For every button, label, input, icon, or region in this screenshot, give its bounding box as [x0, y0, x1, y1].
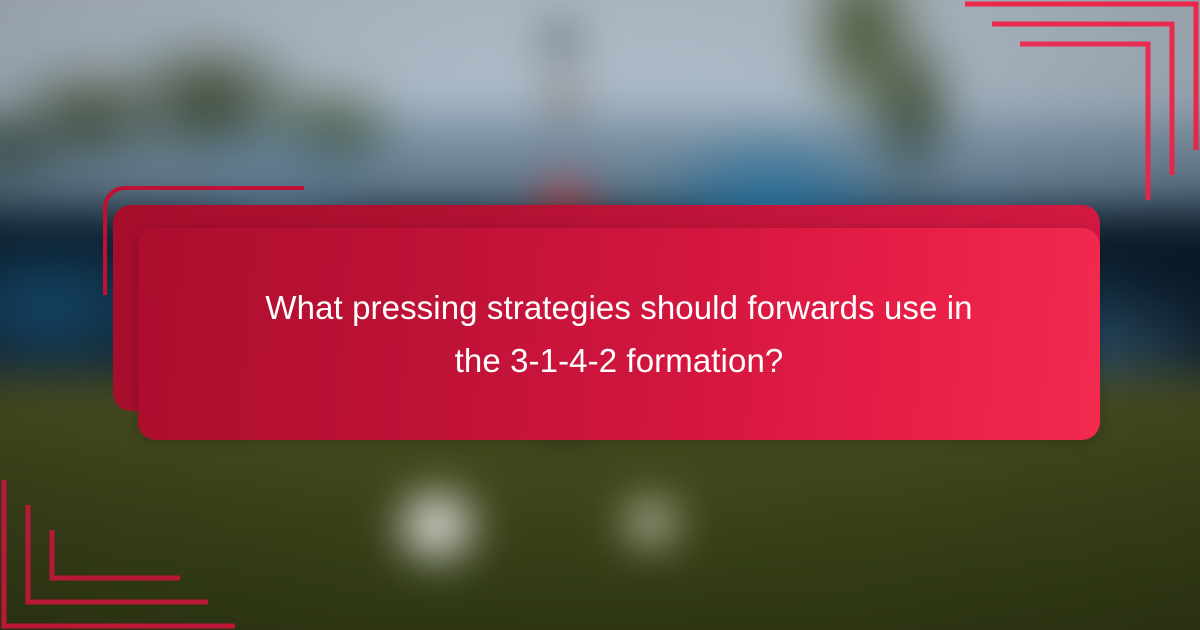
card-stack: What pressing strategies should forwards…	[0, 0, 1200, 630]
question-card-banner: What pressing strategies should forwards…	[0, 0, 1200, 630]
question-card: What pressing strategies should forwards…	[138, 228, 1100, 440]
question-title: What pressing strategies should forwards…	[183, 281, 1055, 388]
